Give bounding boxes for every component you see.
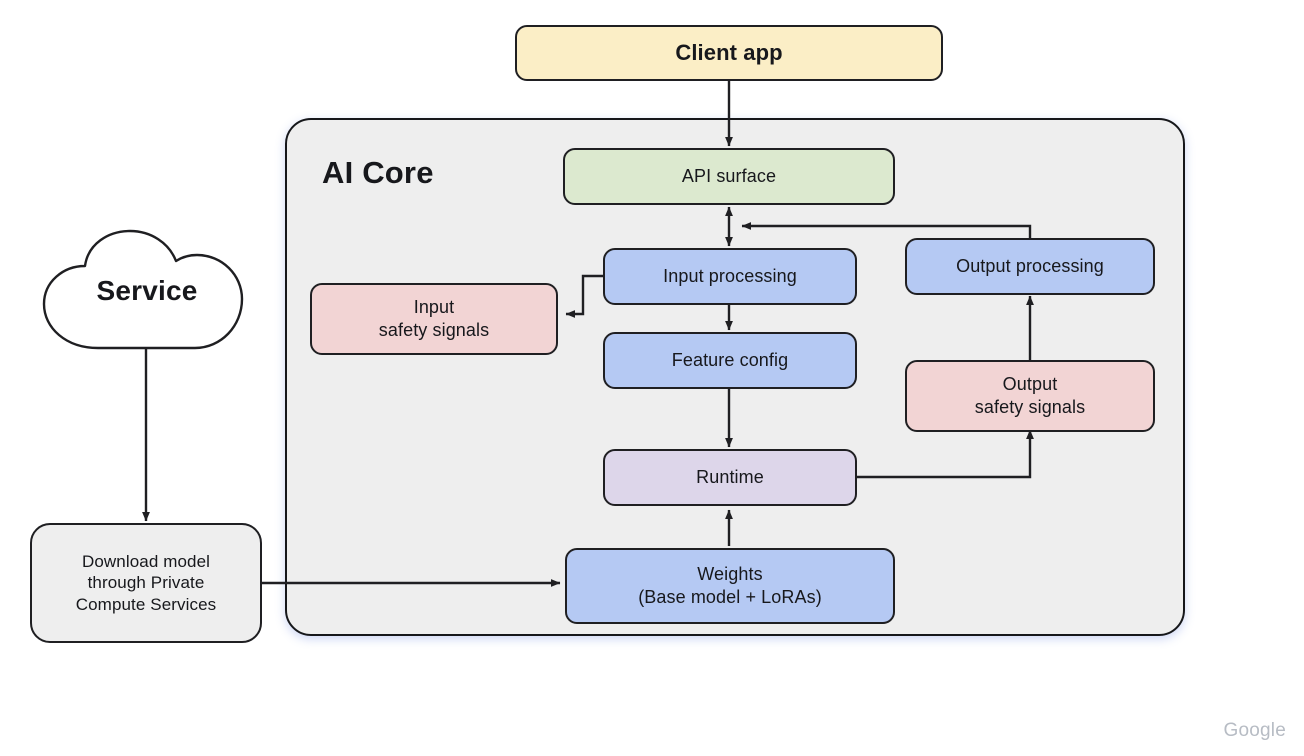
node-client-app[interactable]: Client app — [515, 25, 943, 81]
node-api-surface[interactable]: API surface — [563, 148, 895, 205]
node-input-safety-signals[interactable]: Input safety signals — [310, 283, 558, 355]
google-watermark: Google — [1224, 720, 1286, 742]
node-output-processing[interactable]: Output processing — [905, 238, 1155, 295]
diagram-canvas: AI Core — [0, 0, 1304, 756]
node-weights[interactable]: Weights (Base model + LoRAs) — [565, 548, 895, 624]
node-input-processing[interactable]: Input processing — [603, 248, 857, 305]
node-download-model[interactable]: Download model through Private Compute S… — [30, 523, 262, 643]
service-cloud-label: Service — [36, 275, 258, 307]
node-feature-config[interactable]: Feature config — [603, 332, 857, 389]
node-output-safety-signals[interactable]: Output safety signals — [905, 360, 1155, 432]
node-runtime[interactable]: Runtime — [603, 449, 857, 506]
ai-core-title: AI Core — [322, 155, 434, 191]
